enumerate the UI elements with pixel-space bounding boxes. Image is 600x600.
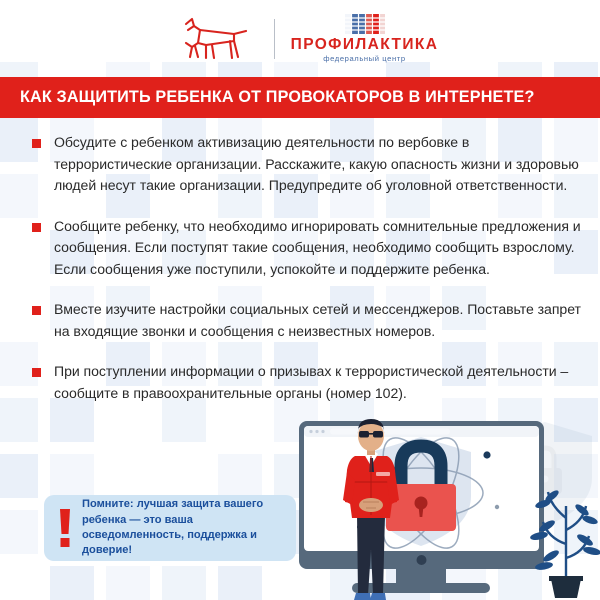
header: ПРОФИЛАКТИКА федеральный центр (0, 0, 600, 77)
callout-box: Помните: лучшая защита вашего ребенка — … (44, 495, 296, 561)
page-title: КАК ЗАЩИТИТЬ РЕБЕНКА ОТ ПРОВОКАТОРОВ В И… (0, 88, 535, 107)
header-divider (274, 19, 275, 59)
advice-item-text: Вместе изучите настройки социальных сете… (54, 299, 582, 342)
bullet-square-icon (32, 223, 41, 232)
advice-item: Вместе изучите настройки социальных сете… (32, 299, 582, 342)
advice-item-text: Обсудите с ребенком активизацию деятельн… (54, 132, 582, 197)
advice-item: Обсудите с ребенком активизацию деятельн… (32, 132, 582, 197)
advice-item-text: Сообщите ребенку, что необходимо игнорир… (54, 216, 582, 281)
infographic-page: ПРОФИЛАКТИКА федеральный центр КАК ЗАЩИТ… (0, 0, 600, 600)
title-banner: КАК ЗАЩИТИТЬ РЕБЕНКА ОТ ПРОВОКАТОРОВ В И… (0, 77, 600, 118)
bullet-square-icon (32, 368, 41, 377)
advice-item: При поступлении информации о призывах к … (32, 361, 582, 404)
deer-line-art-logo (162, 13, 258, 65)
exclamation-mark-icon (58, 507, 72, 549)
advice-item-text: При поступлении информации о призывах к … (54, 361, 582, 404)
bullet-square-icon (32, 306, 41, 315)
advice-item: Сообщите ребенку, что необходимо игнорир… (32, 216, 582, 281)
bullet-square-icon (32, 139, 41, 148)
mosaic-flag-building-icon (345, 14, 385, 34)
callout-text: Помните: лучшая защита вашего ребенка — … (82, 497, 284, 559)
brand-title: ПРОФИЛАКТИКА (291, 37, 439, 53)
brand-subtitle: федеральный центр (323, 55, 405, 63)
advice-list: Обсудите с ребенком активизацию деятельн… (0, 132, 600, 423)
brand-text-block: ПРОФИЛАКТИКА федеральный центр (291, 14, 439, 63)
